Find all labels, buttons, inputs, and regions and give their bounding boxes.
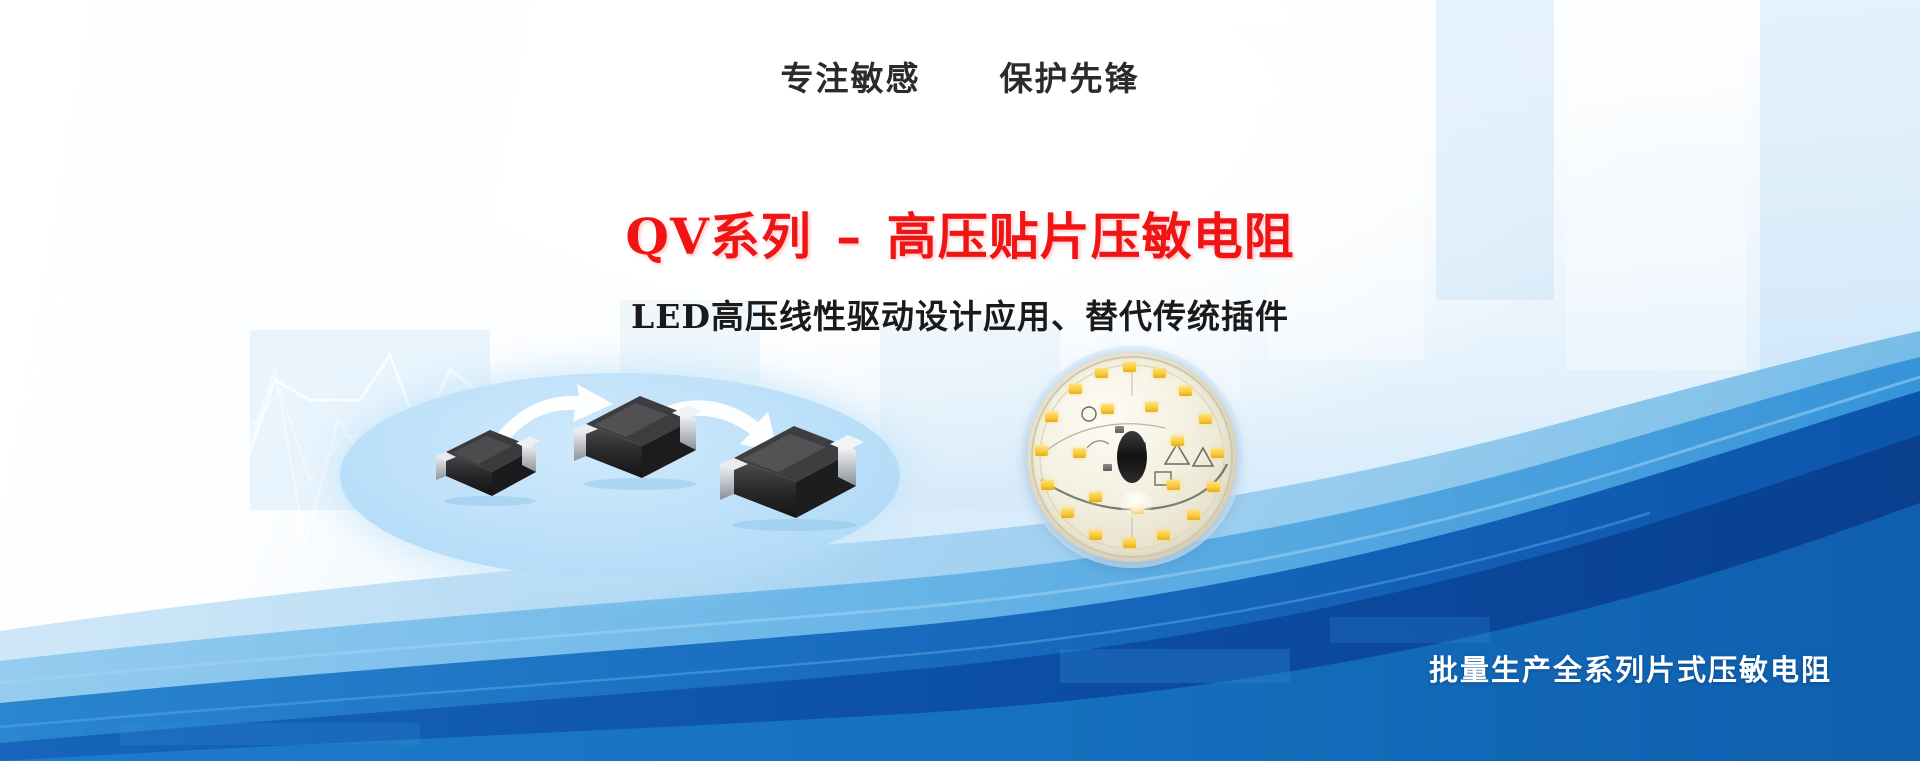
- wave-decoration: [0, 331, 1920, 761]
- led-emitter: [1061, 508, 1074, 518]
- led-emitter: [1095, 368, 1108, 378]
- led-driver-chip: [1115, 426, 1124, 433]
- led-emitter: [1123, 362, 1136, 372]
- smd-varistor-medium: [566, 388, 712, 492]
- product-banner: 专注敏感 保护先锋 QV系列 – 高压贴片压敏电阻 LED高压线性驱动设计应用、…: [0, 0, 1920, 761]
- led-emitter: [1089, 492, 1102, 502]
- brand-tagline: 专注敏感 保护先锋: [0, 52, 1920, 100]
- headline-dash: –: [830, 207, 868, 266]
- page-subtitle: LED高压线性驱动设计应用、替代传统插件: [0, 290, 1920, 338]
- led-emitter: [1211, 448, 1224, 458]
- led-driver-chip: [1103, 464, 1112, 471]
- led-emitter: [1123, 538, 1136, 548]
- smd-varistor-large: [712, 418, 874, 534]
- led-emitter: [1153, 368, 1166, 378]
- led-emitter: [1045, 412, 1058, 422]
- led-emitter: [1073, 448, 1086, 458]
- led-emitter: [1069, 384, 1082, 394]
- led-emitter: [1157, 530, 1170, 540]
- smd-varistor-small: [430, 422, 548, 506]
- led-emitter: [1207, 482, 1220, 492]
- led-emitter: [1041, 480, 1054, 490]
- tagline-right: 保护先锋: [1000, 59, 1140, 98]
- headline-series: QV系列: [625, 207, 811, 266]
- led-emitter: [1179, 386, 1192, 396]
- led-specular-glow: [1119, 491, 1153, 515]
- led-pcb-disc: [1027, 352, 1237, 562]
- led-emitter: [1199, 414, 1212, 424]
- led-emitter: [1187, 510, 1200, 520]
- led-emitter: [1145, 402, 1158, 412]
- page-title: QV系列 – 高压贴片压敏电阻: [0, 197, 1920, 269]
- led-emitter: [1035, 446, 1048, 456]
- led-light-engine-board: [1027, 352, 1237, 562]
- led-center-connector: [1117, 431, 1147, 483]
- led-emitter: [1171, 436, 1184, 446]
- led-emitter: [1101, 404, 1114, 414]
- led-emitter: [1089, 530, 1102, 540]
- tagline-left: 专注敏感: [781, 59, 921, 98]
- headline-product: 高压贴片压敏电阻: [887, 207, 1295, 266]
- production-footnote: 批量生产全系列片式压敏电阻: [1429, 647, 1832, 689]
- led-emitter: [1167, 480, 1180, 490]
